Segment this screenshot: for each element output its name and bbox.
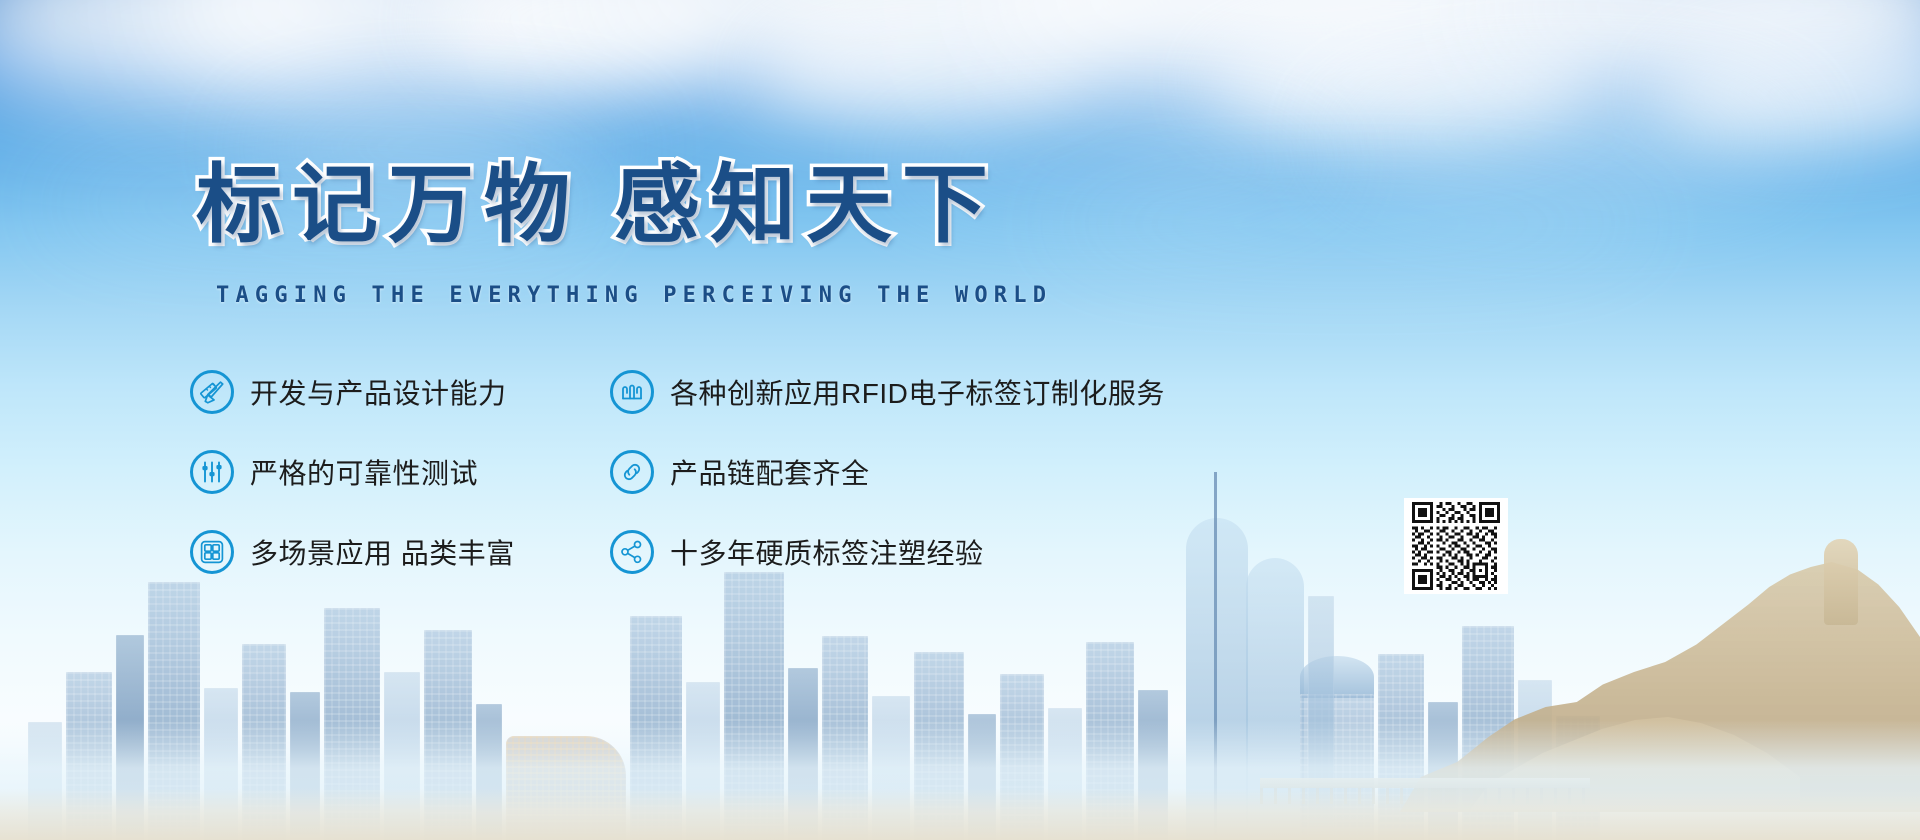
feature-label: 十多年硬质标签注塑经验 <box>670 532 984 572</box>
page-subtitle: TAGGING THE EVERYTHING PERCEIVING THE WO… <box>216 283 1052 308</box>
banner-content: 标记万物 感知天下 TAGGING THE EVERYTHING PERCEIV… <box>0 0 1920 840</box>
page-title: 标记万物 感知天下 <box>196 162 998 248</box>
feature-label: 产品链配套齐全 <box>670 452 870 492</box>
crown-icon <box>610 370 654 414</box>
ruler-pencil-icon <box>190 370 234 414</box>
qr-code[interactable] <box>1404 498 1508 594</box>
share-network-icon <box>610 530 654 574</box>
feature-item-multi-scenario: 多场景应用 品类丰富 <box>190 530 610 574</box>
feature-item-design: 开发与产品设计能力 <box>190 370 610 414</box>
feature-item-product-chain: 产品链配套齐全 <box>610 450 1165 494</box>
feature-item-rfid-service: 各种创新应用RFID电子标签订制化服务 <box>610 370 1165 414</box>
feature-label: 各种创新应用RFID电子标签订制化服务 <box>670 372 1165 412</box>
qr-code-image <box>1408 502 1504 590</box>
grid-squares-icon <box>190 530 234 574</box>
sliders-icon <box>190 450 234 494</box>
feature-item-reliability-test: 严格的可靠性测试 <box>190 450 610 494</box>
feature-label: 严格的可靠性测试 <box>250 452 478 492</box>
feature-list: 开发与产品设计能力 各种创新应用RFID电子标签订制化服务 <box>190 352 1165 592</box>
feature-label: 多场景应用 品类丰富 <box>250 532 515 572</box>
promotional-banner: 标记万物 感知天下 TAGGING THE EVERYTHING PERCEIV… <box>0 0 1920 840</box>
feature-item-molding-experience: 十多年硬质标签注塑经验 <box>610 530 1165 574</box>
feature-label: 开发与产品设计能力 <box>250 372 507 412</box>
chain-link-icon <box>610 450 654 494</box>
